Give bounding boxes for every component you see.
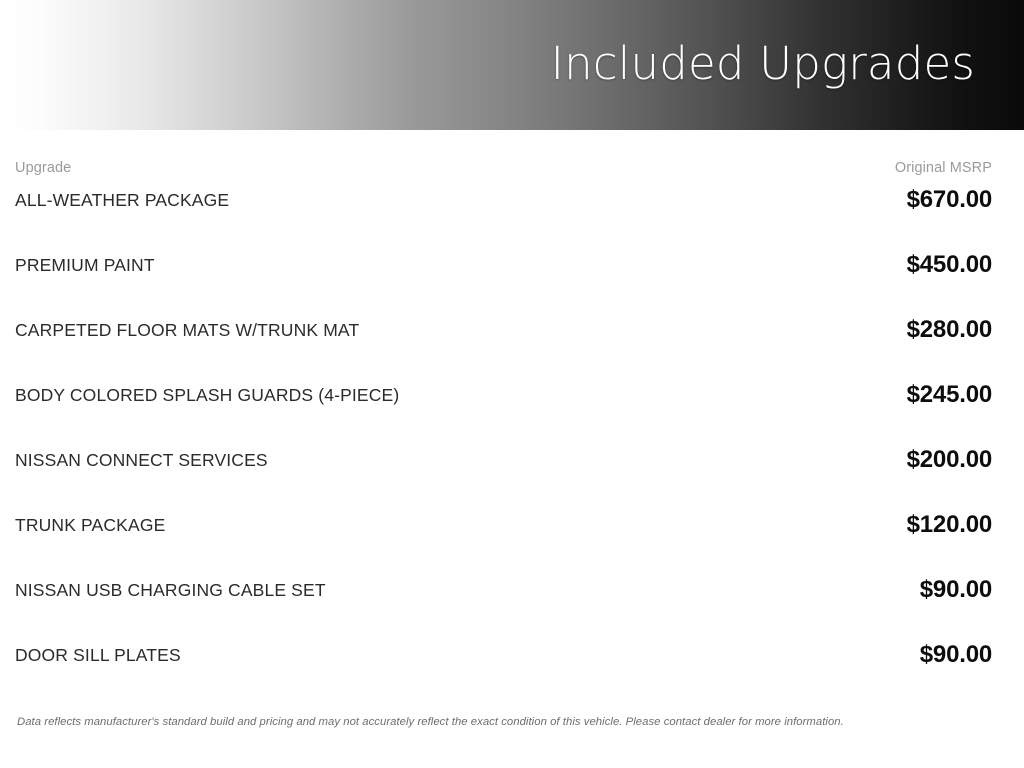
table-header-row: Upgrade Original MSRP xyxy=(15,160,992,176)
upgrade-name: NISSAN USB CHARGING CABLE SET xyxy=(15,578,326,601)
table-row: NISSAN USB CHARGING CABLE SET$90.00 xyxy=(15,578,992,643)
disclaimer-text: Data reflects manufacturer's standard bu… xyxy=(17,715,992,730)
table-row: TRUNK PACKAGE$120.00 xyxy=(15,513,992,578)
table-row: ALL-WEATHER PACKAGE$670.00 xyxy=(15,188,992,253)
table-body: ALL-WEATHER PACKAGE$670.00PREMIUM PAINT$… xyxy=(15,188,992,708)
upgrade-name: CARPETED FLOOR MATS W/TRUNK MAT xyxy=(15,318,359,341)
page-title: Included Upgrades xyxy=(551,38,975,90)
upgrades-table: Upgrade Original MSRP ALL-WEATHER PACKAG… xyxy=(0,130,1024,768)
upgrade-price: $670.00 xyxy=(907,188,992,212)
upgrade-price: $245.00 xyxy=(907,383,992,407)
upgrade-price: $280.00 xyxy=(907,318,992,342)
upgrade-name: TRUNK PACKAGE xyxy=(15,513,165,536)
table-row: NISSAN CONNECT SERVICES$200.00 xyxy=(15,448,992,513)
upgrade-name: ALL-WEATHER PACKAGE xyxy=(15,188,229,211)
upgrade-price: $450.00 xyxy=(907,253,992,277)
upgrade-name: PREMIUM PAINT xyxy=(15,253,155,276)
upgrade-price: $200.00 xyxy=(907,448,992,472)
upgrade-name: DOOR SILL PLATES xyxy=(15,643,181,666)
upgrade-name: BODY COLORED SPLASH GUARDS (4-PIECE) xyxy=(15,383,399,406)
column-header-original-msrp: Original MSRP xyxy=(895,160,992,176)
table-row: PREMIUM PAINT$450.00 xyxy=(15,253,992,318)
upgrade-price: $90.00 xyxy=(920,578,992,602)
table-row: DOOR SILL PLATES$90.00 xyxy=(15,643,992,708)
upgrade-name: NISSAN CONNECT SERVICES xyxy=(15,448,268,471)
upgrade-price: $90.00 xyxy=(920,643,992,667)
column-header-upgrade: Upgrade xyxy=(15,160,71,176)
header-banner: Included Upgrades xyxy=(0,0,1024,130)
upgrade-price: $120.00 xyxy=(907,513,992,537)
table-row: CARPETED FLOOR MATS W/TRUNK MAT$280.00 xyxy=(15,318,992,383)
table-row: BODY COLORED SPLASH GUARDS (4-PIECE)$245… xyxy=(15,383,992,448)
